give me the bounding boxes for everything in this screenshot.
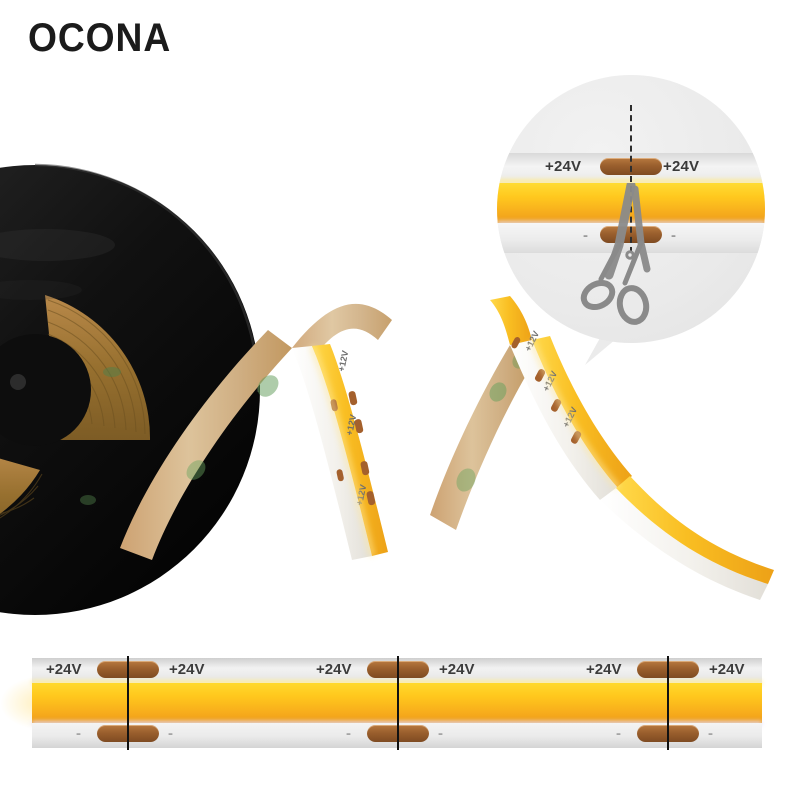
strip-voltage-label: +24V: [586, 661, 621, 678]
strip-voltage-label: +24V: [46, 661, 81, 678]
strip-voltage-label: +24V: [709, 661, 744, 678]
strip-negative-label: -: [168, 725, 173, 742]
product-image-canvas: OCONA: [0, 0, 800, 800]
strip-negative-label: -: [346, 725, 351, 742]
callout-voltage-label-left: +24V: [545, 158, 581, 175]
strip-voltage-label: +24V: [316, 661, 351, 678]
cut-point-zoom-callout: +24V +24V - -: [497, 75, 765, 343]
strip-negative-label: -: [76, 725, 81, 742]
callout-circle: +24V +24V - -: [497, 75, 765, 343]
cut-line: [127, 656, 129, 750]
svg-text:+12V: +12V: [336, 350, 350, 373]
cut-line: [667, 656, 669, 750]
scissors-icon: [575, 183, 685, 333]
strip-voltage-label: +24V: [169, 661, 204, 678]
callout-voltage-label-right: +24V: [663, 158, 699, 175]
strip-negative-label: -: [438, 725, 443, 742]
flat-strip-cut-marks: +24V +24V - - +24V +24V - - +24V +24V - …: [32, 658, 762, 748]
strip-voltage-label: +24V: [439, 661, 474, 678]
strip-negative-label: -: [708, 725, 713, 742]
cut-line: [397, 656, 399, 750]
strip-negative-label: -: [616, 725, 621, 742]
